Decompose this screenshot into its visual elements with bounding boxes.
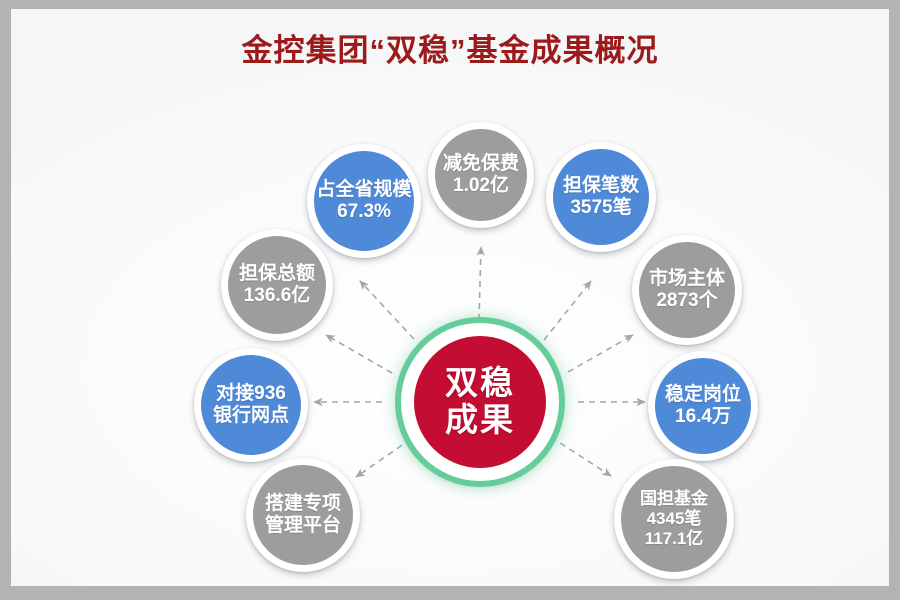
bubble-national-guarantee-fund[interactable]: 国担基金4345笔117.1亿 bbox=[614, 459, 734, 579]
bubble-label-stable-jobs-line2: 16.4万 bbox=[675, 406, 731, 428]
bubble-province-share[interactable]: 占全省规模67.3% bbox=[307, 144, 421, 258]
bubble-label-guarantee-total-line2: 136.6亿 bbox=[244, 285, 311, 307]
bubble-label-market-entities-line1: 市场主体 bbox=[649, 268, 725, 290]
bubble-label-guarantee-total-line1: 担保总额 bbox=[239, 263, 315, 285]
bubble-disc-market-entities: 市场主体2873个 bbox=[639, 242, 735, 338]
bubble-label-bank-outlets-line2: 银行网点 bbox=[213, 405, 289, 427]
bubble-disc-national-guarantee-fund: 国担基金4345笔117.1亿 bbox=[621, 466, 727, 572]
center-label-line1: 双稳 bbox=[445, 365, 515, 402]
arrow-to-guarantee-total bbox=[326, 335, 392, 373]
bubble-disc-guarantee-count: 担保笔数3575笔 bbox=[553, 149, 649, 245]
arrow-to-exempted-premium bbox=[479, 247, 481, 320]
bubble-disc-exempted-premium: 减免保费1.02亿 bbox=[435, 129, 527, 221]
bubble-guarantee-count[interactable]: 担保笔数3575笔 bbox=[546, 142, 656, 252]
bubble-stable-jobs[interactable]: 稳定岗位16.4万 bbox=[648, 351, 758, 461]
infographic-canvas: 金控集团“双稳”基金成果概况 bbox=[11, 9, 889, 586]
bubble-label-national-guarantee-fund-line2: 4345笔 bbox=[647, 509, 702, 529]
arrow-to-special-platform bbox=[356, 439, 411, 477]
bubble-disc-bank-outlets: 对接936银行网点 bbox=[201, 355, 301, 455]
arrow-to-province-share bbox=[360, 281, 414, 339]
bubble-label-province-share-line2: 67.3% bbox=[337, 201, 391, 223]
arrow-to-national-guarantee-fund bbox=[551, 437, 611, 476]
center-bubble[interactable]: 双稳 成果 bbox=[401, 323, 559, 481]
bubble-exempted-premium[interactable]: 减免保费1.02亿 bbox=[428, 122, 534, 228]
bubble-label-national-guarantee-fund-line3: 117.1亿 bbox=[645, 529, 704, 549]
bubble-bank-outlets[interactable]: 对接936银行网点 bbox=[194, 348, 308, 462]
page-title: 金控集团“双稳”基金成果概况 bbox=[11, 25, 889, 70]
bubble-label-guarantee-count-line1: 担保笔数 bbox=[563, 175, 639, 197]
bubble-label-bank-outlets-line1: 对接936 bbox=[216, 383, 286, 405]
arrow-to-guarantee-count bbox=[544, 281, 591, 340]
bubble-label-guarantee-count-line2: 3575笔 bbox=[570, 197, 631, 219]
radial-arrows-layer bbox=[11, 9, 889, 586]
bubble-special-platform[interactable]: 搭建专项管理平台 bbox=[246, 458, 360, 572]
center-label-line2: 成果 bbox=[445, 402, 515, 439]
bubble-label-national-guarantee-fund-line1: 国担基金 bbox=[640, 489, 708, 509]
bubble-label-exempted-premium-line1: 减免保费 bbox=[443, 153, 519, 175]
bubble-label-stable-jobs-line1: 稳定岗位 bbox=[665, 384, 741, 406]
infographic-page: 金控集团“双稳”基金成果概况 bbox=[0, 0, 900, 600]
bubble-disc-guarantee-total: 担保总额136.6亿 bbox=[228, 236, 326, 334]
bubble-label-market-entities-line2: 2873个 bbox=[656, 290, 717, 312]
bubble-guarantee-total[interactable]: 担保总额136.6亿 bbox=[221, 229, 333, 341]
bubble-market-entities[interactable]: 市场主体2873个 bbox=[632, 235, 742, 345]
bubble-label-province-share-line1: 占全省规模 bbox=[316, 179, 411, 201]
bubble-disc-special-platform: 搭建专项管理平台 bbox=[253, 465, 353, 565]
bubble-disc-stable-jobs: 稳定岗位16.4万 bbox=[655, 358, 751, 454]
arrow-to-market-entities bbox=[568, 335, 633, 372]
center-disc: 双稳 成果 bbox=[414, 336, 546, 468]
bubble-disc-province-share: 占全省规模67.3% bbox=[314, 151, 414, 251]
bubble-label-exempted-premium-line2: 1.02亿 bbox=[453, 175, 509, 197]
bubble-label-special-platform-line2: 管理平台 bbox=[265, 515, 341, 537]
bubble-label-special-platform-line1: 搭建专项 bbox=[265, 493, 341, 515]
